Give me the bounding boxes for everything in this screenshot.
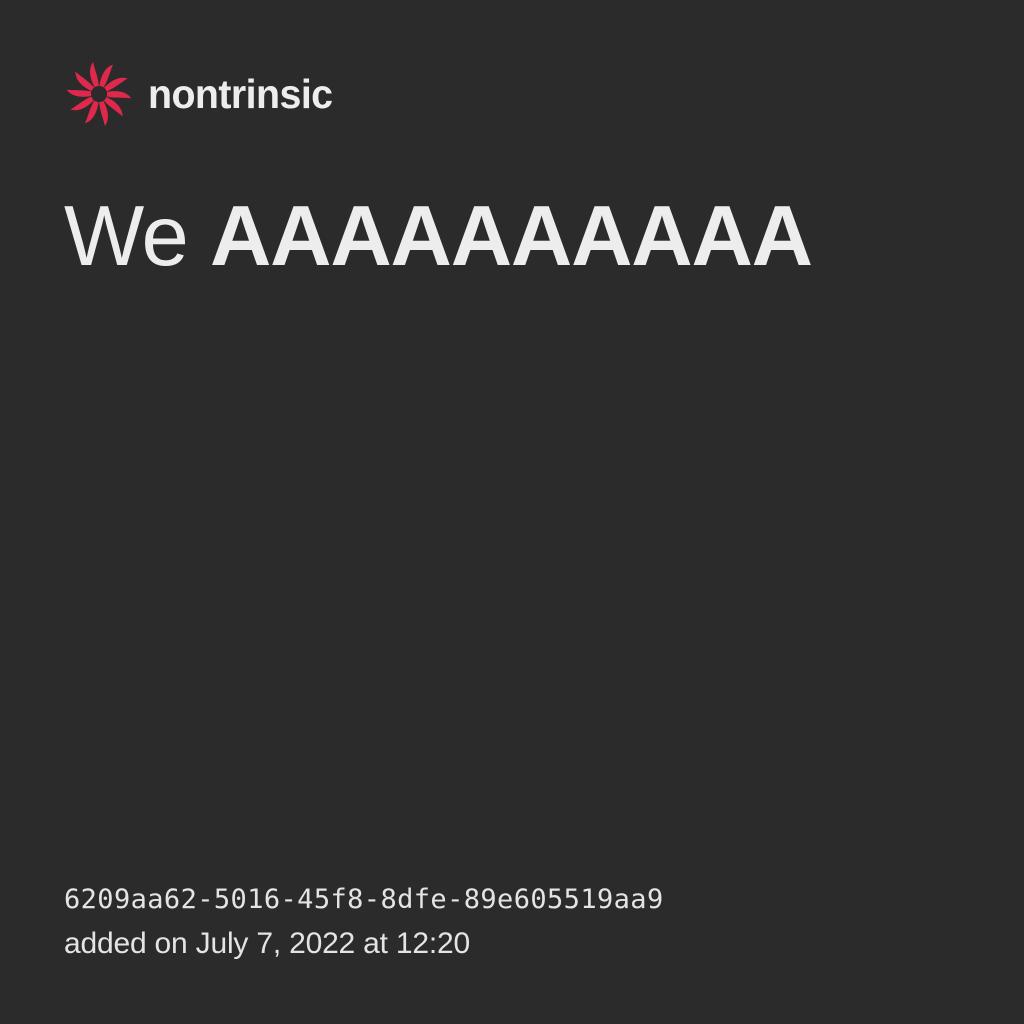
brand-wordmark: nontrinsic — [148, 74, 333, 115]
record-metadata: 6209aa62-5016-45f8-8dfe-89e605519aa9 add… — [64, 881, 976, 966]
nontrinsic-swirl-icon — [64, 59, 134, 129]
record-added-date: added on July 7, 2022 at 12:20 — [64, 923, 976, 966]
record-id: 6209aa62-5016-45f8-8dfe-89e605519aa9 — [64, 881, 976, 919]
headline-emphasis: AAAAAAAAAA — [210, 189, 812, 284]
headline-lead: We — [64, 189, 210, 284]
brand-lockup[interactable]: nontrinsic — [64, 56, 340, 132]
quote-card: nontrinsic We AAAAAAAAAA 6209aa62-5016-4… — [0, 0, 1024, 1024]
quote-headline: We AAAAAAAAAA — [64, 192, 976, 282]
